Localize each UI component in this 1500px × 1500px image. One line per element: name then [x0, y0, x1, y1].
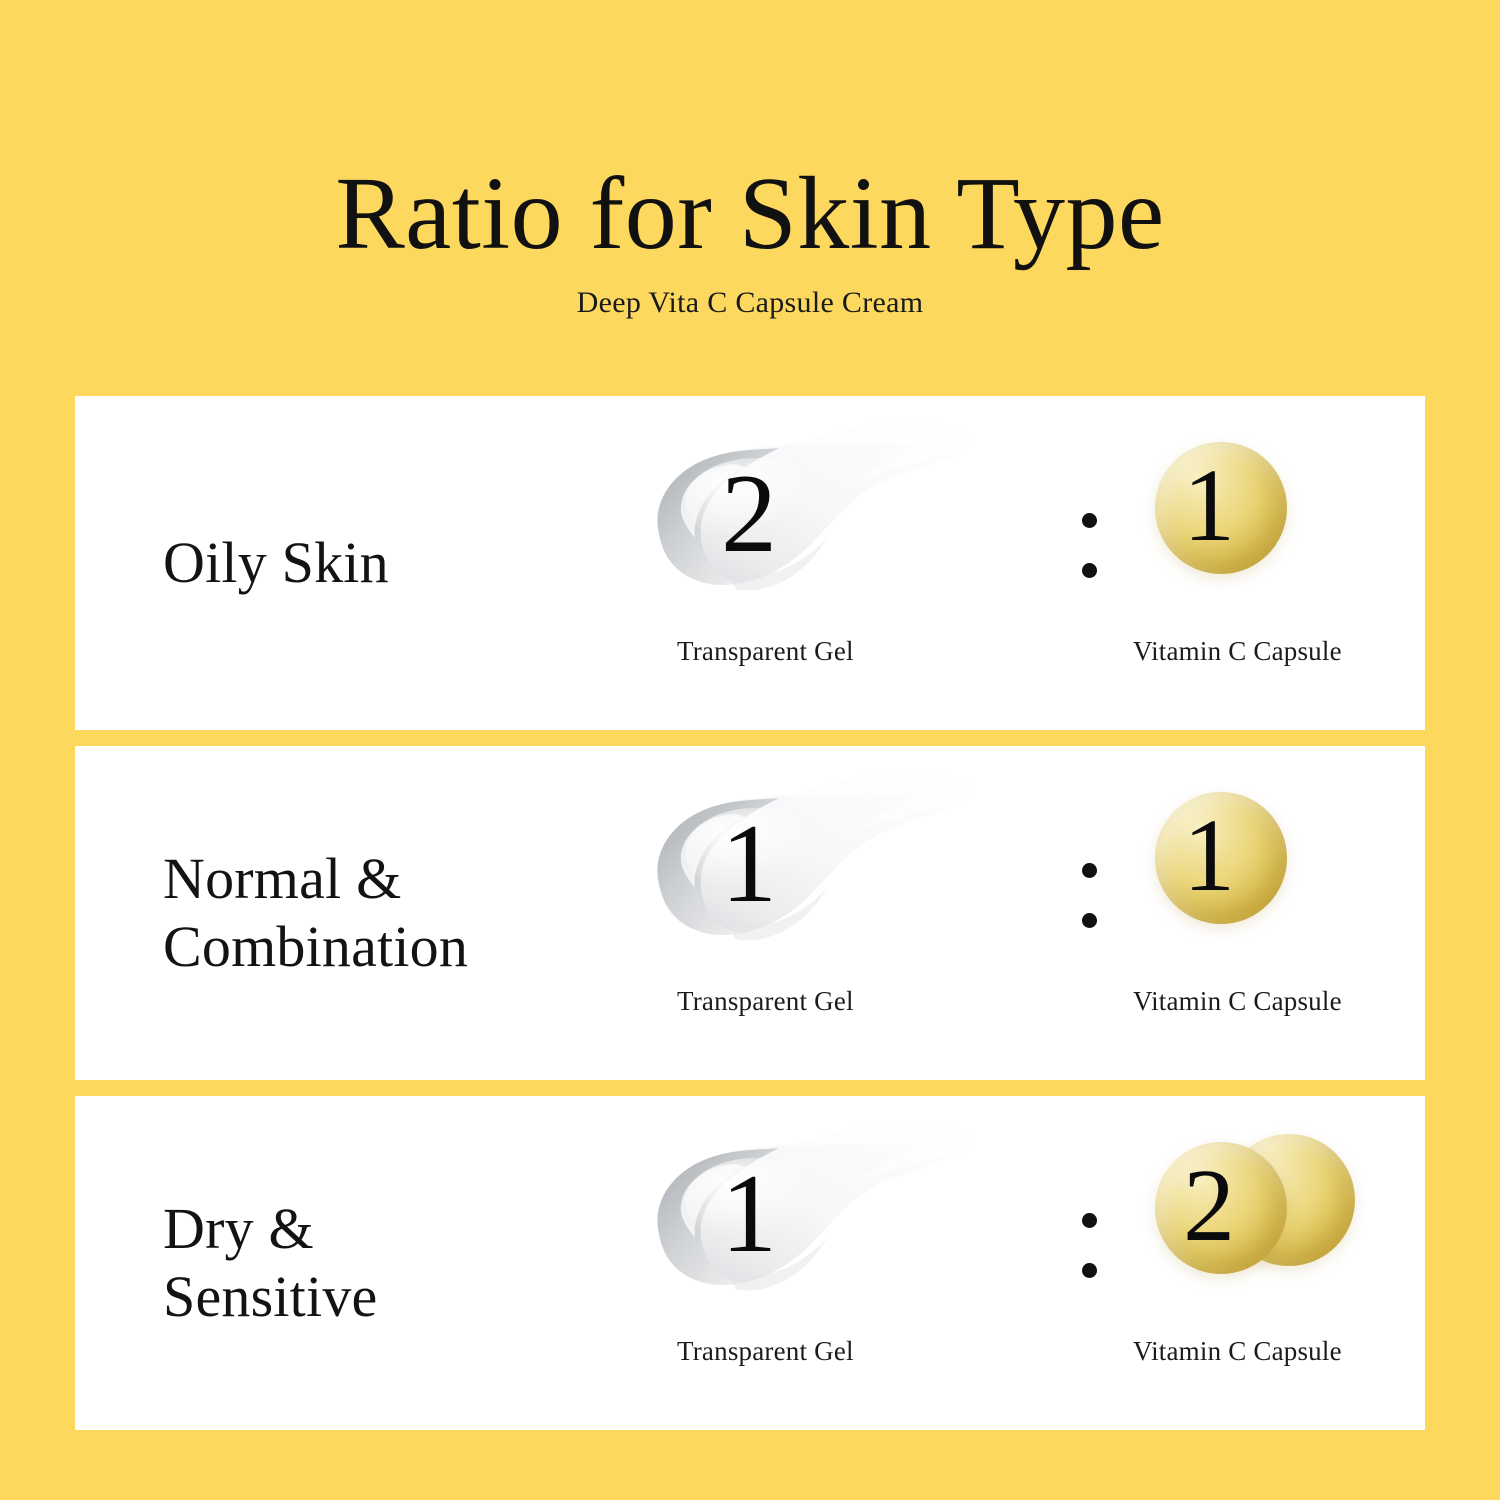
- capsule-side: 1 Vitamin C Capsule: [1125, 396, 1425, 730]
- ratio-card-normal-combination: Normal & Combination: [75, 746, 1425, 1080]
- vitamin-c-capsule-icon: [1155, 442, 1287, 574]
- colon-dot-bottom: [1082, 913, 1097, 928]
- colon-dot-top: [1082, 513, 1097, 528]
- colon-dot-bottom: [1082, 1263, 1097, 1278]
- gel-caption: Transparent Gel: [635, 1336, 1077, 1367]
- colon-dot-top: [1082, 863, 1097, 878]
- poster-header: Ratio for Skin Type Deep Vita C Capsule …: [0, 0, 1500, 320]
- colon-dot-bottom: [1082, 563, 1097, 578]
- gel-smear-icon: [635, 1116, 1035, 1331]
- gel-side: 1 Transparent Gel: [635, 1096, 1035, 1430]
- capsule-caption: Vitamin C Capsule: [1125, 986, 1433, 1017]
- gel-caption: Transparent Gel: [635, 636, 1077, 667]
- ratio-colon: [1082, 513, 1098, 593]
- skin-type-label: Dry & Sensitive: [163, 1096, 593, 1430]
- gel-swatch: 1: [635, 1116, 1035, 1331]
- ratio-card-oily-skin: Oily Skin: [75, 396, 1425, 730]
- skin-type-label: Oily Skin: [163, 396, 593, 730]
- gel-swatch: 2: [635, 416, 1035, 631]
- capsule-caption: Vitamin C Capsule: [1125, 636, 1433, 667]
- skin-type-line-1: Oily Skin: [163, 529, 593, 597]
- ratio-visual-area: 1 Transparent Gel 1 Vitamin C Capsule: [635, 746, 1425, 1080]
- capsule-group: 2: [1125, 1116, 1425, 1331]
- gel-smear-icon: [635, 766, 1035, 981]
- ratio-visual-area: 2 Transparent Gel 1 Vitamin C Capsule: [635, 396, 1425, 730]
- poster-root: Ratio for Skin Type Deep Vita C Capsule …: [0, 0, 1500, 1500]
- capsule-side: 2 Vitamin C Capsule: [1125, 1096, 1425, 1430]
- vitamin-c-capsule-icon: [1155, 792, 1287, 924]
- colon-dot-top: [1082, 1213, 1097, 1228]
- capsule-caption: Vitamin C Capsule: [1125, 1336, 1433, 1367]
- skin-type-line-1: Normal &: [163, 845, 593, 913]
- ratio-colon: [1082, 1213, 1098, 1293]
- ratio-visual-area: 1 Transparent Gel 2 Vitamin C Capsule: [635, 1096, 1425, 1430]
- capsule-side: 1 Vitamin C Capsule: [1125, 746, 1425, 1080]
- skin-type-line-1: Dry &: [163, 1195, 593, 1263]
- capsule-group: 1: [1125, 766, 1425, 981]
- skin-type-line-2: Combination: [163, 913, 593, 981]
- gel-side: 1 Transparent Gel: [635, 746, 1035, 1080]
- capsule-group: 1: [1125, 416, 1425, 631]
- page-subtitle: Deep Vita C Capsule Cream: [0, 268, 1500, 320]
- gel-swatch: 1: [635, 766, 1035, 981]
- gel-side: 2 Transparent Gel: [635, 396, 1035, 730]
- page-title: Ratio for Skin Type: [0, 0, 1500, 268]
- ratio-card-dry-sensitive: Dry & Sensitive: [75, 1096, 1425, 1430]
- ratio-card-list: Oily Skin: [75, 396, 1425, 1430]
- gel-caption: Transparent Gel: [635, 986, 1077, 1017]
- skin-type-line-2: Sensitive: [163, 1263, 593, 1331]
- gel-smear-icon: [635, 416, 1035, 631]
- ratio-colon: [1082, 863, 1098, 943]
- skin-type-label: Normal & Combination: [163, 746, 593, 1080]
- vitamin-c-capsule-icon: [1155, 1142, 1287, 1274]
